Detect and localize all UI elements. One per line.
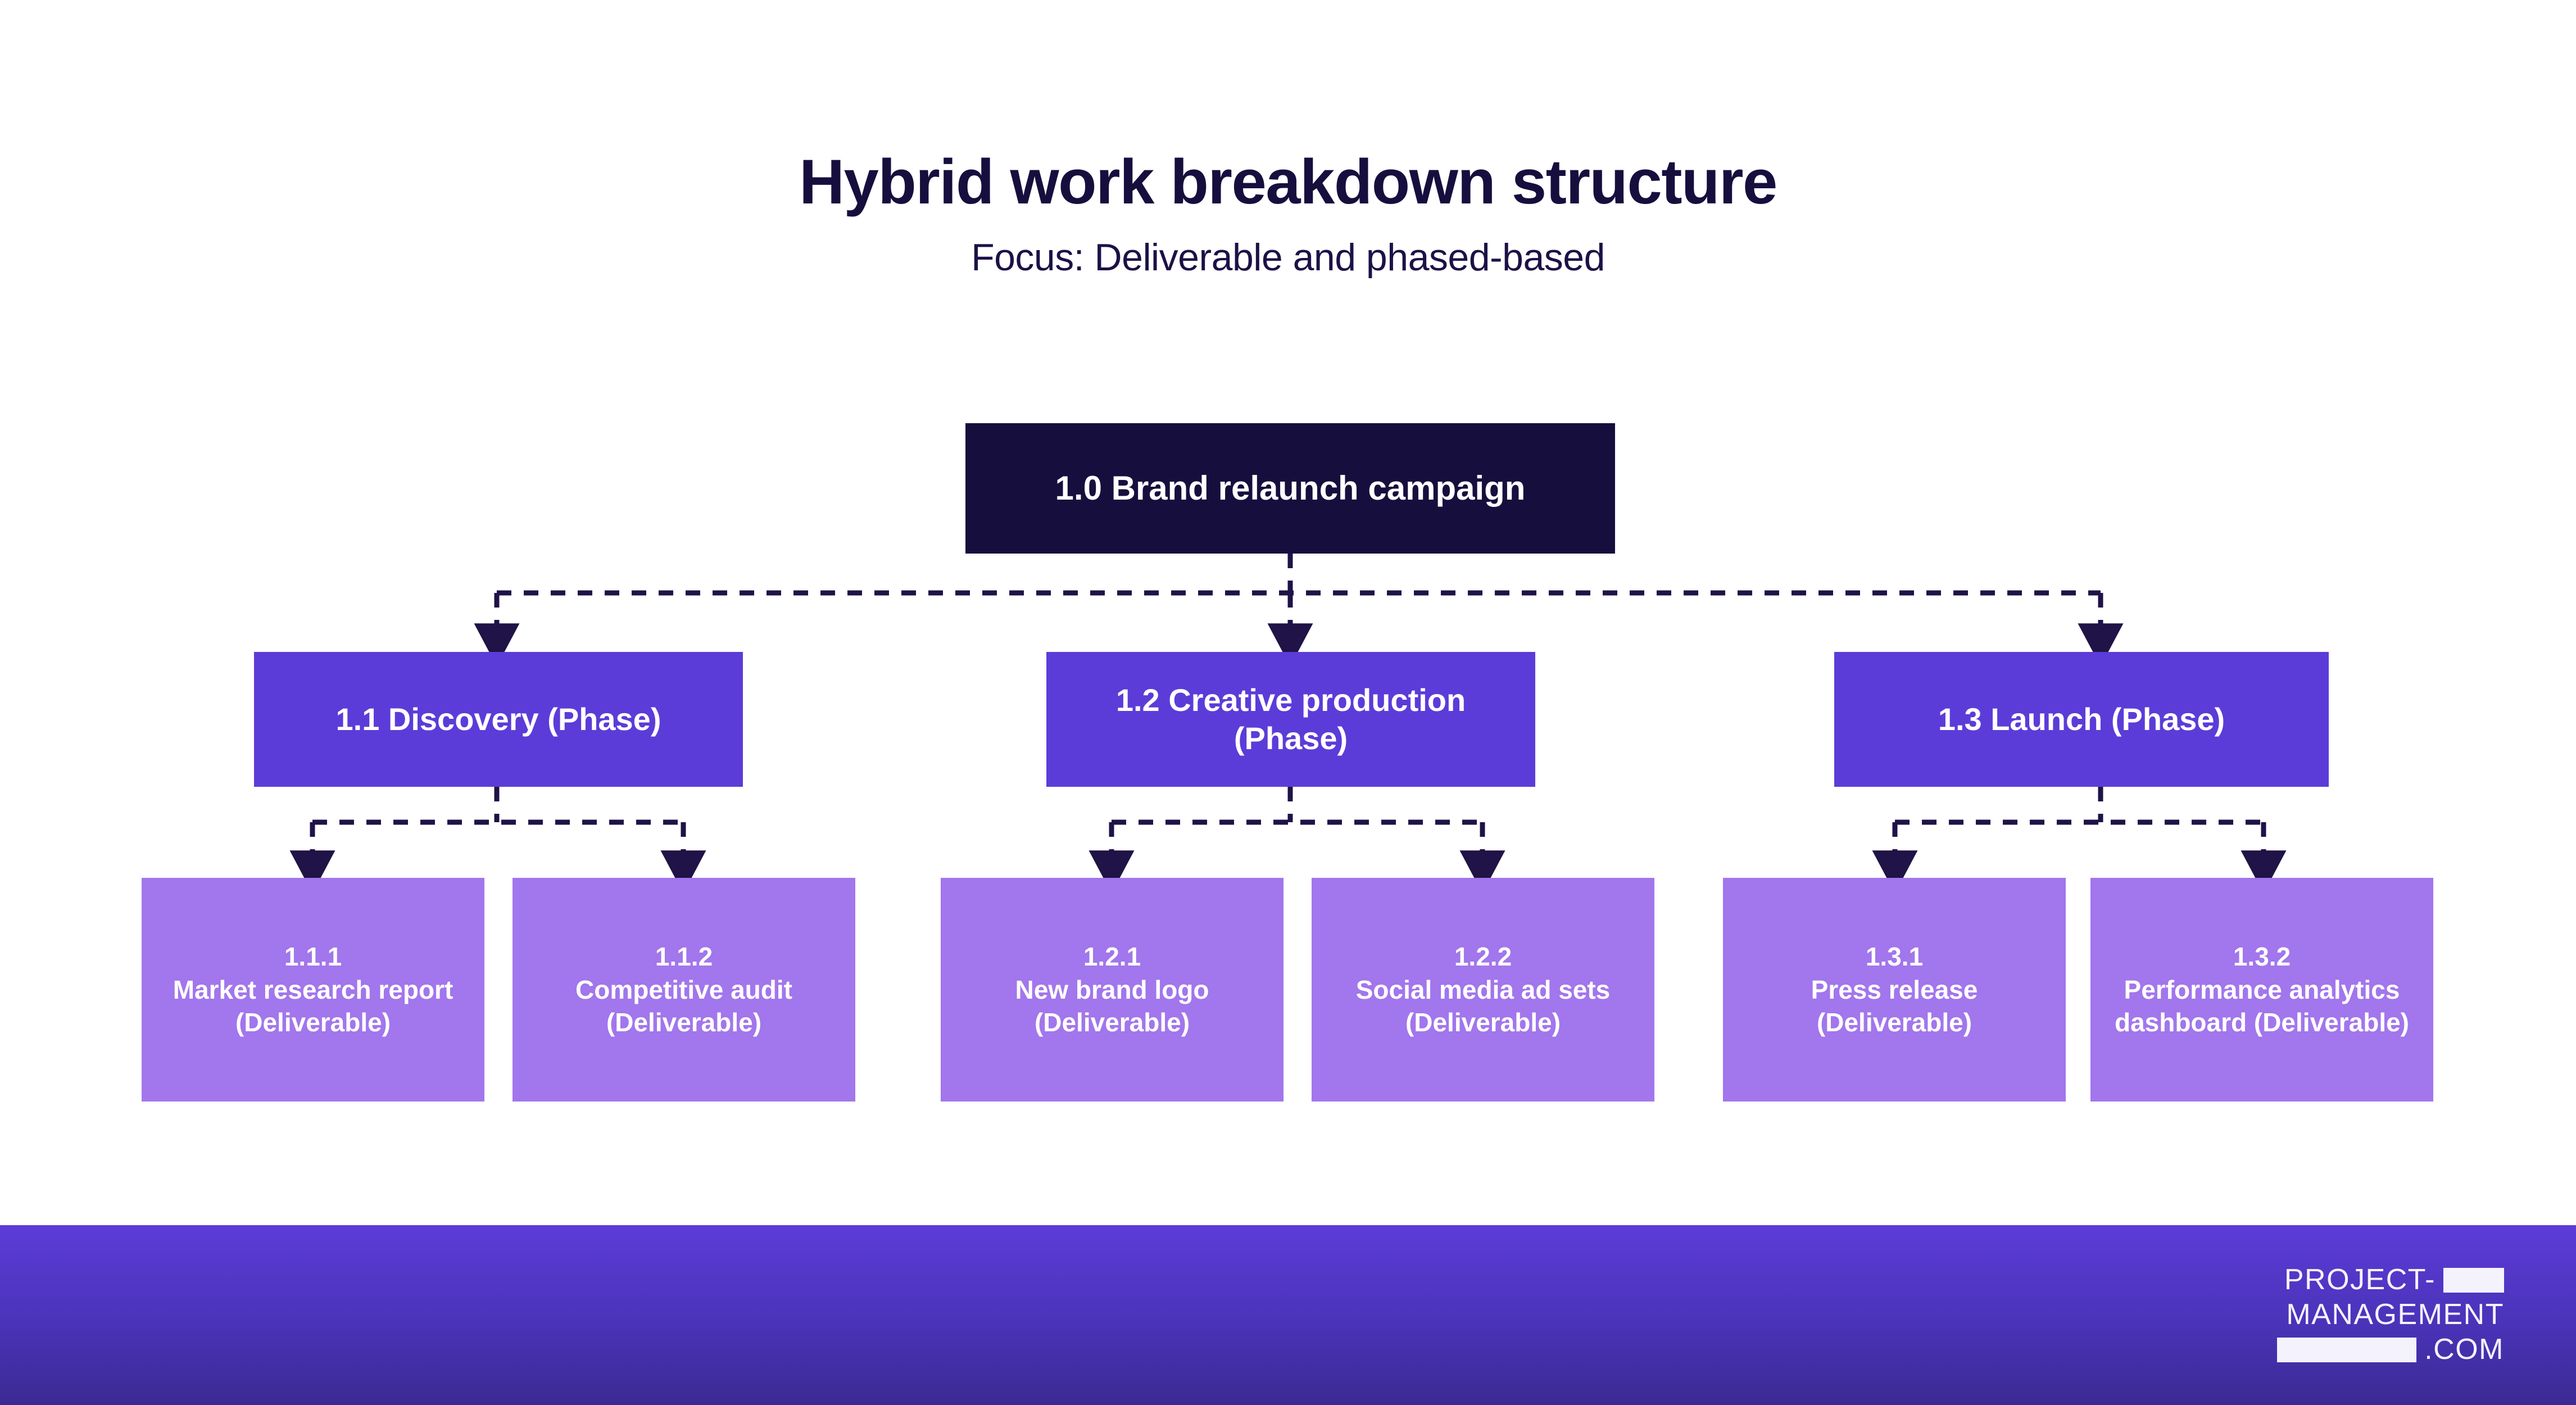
wbs-node-label: Press release (Deliverable) <box>1738 974 2051 1038</box>
wbs-node-deliverable-1-3-1-content: 1.3.1 Press release (Deliverable) <box>1723 941 2066 1038</box>
wbs-node-phase-1-1-text: 1.1 Discovery (Phase) <box>254 700 743 738</box>
site-logo[interactable]: PROJECT- MANAGEMENT .COM <box>2277 1263 2504 1367</box>
wbs-node-phase-1-3[interactable]: 1.3 Launch (Phase) <box>1834 652 2329 787</box>
wbs-node-deliverable-1-1-2[interactable]: 1.1.2 Competitive audit (Deliverable) <box>513 878 855 1102</box>
wbs-node-deliverable-1-3-2[interactable]: 1.3.2 Performance analytics dashboard (D… <box>2090 878 2433 1102</box>
wbs-node-label: New brand logo (Deliverable) <box>955 974 1269 1038</box>
wbs-node-code: 1.3.1 <box>1738 941 2051 973</box>
logo-bar-icon <box>2443 1268 2504 1293</box>
wbs-node-code: 1.1.2 <box>527 941 841 973</box>
wbs-node-code: 1.3.2 <box>2105 941 2419 973</box>
wbs-diagram: 1.0 Brand relaunch campaign 1.1 Discover… <box>0 0 2576 1225</box>
wbs-node-phase-1-3-text: 1.3 Launch (Phase) <box>1834 700 2329 738</box>
wbs-node-label: Competitive audit (Deliverable) <box>527 974 841 1038</box>
logo-text-management: MANAGEMENT <box>2286 1296 2504 1334</box>
footer-band: PROJECT- MANAGEMENT .COM <box>0 1225 2576 1405</box>
wbs-node-deliverable-1-2-2[interactable]: 1.2.2 Social media ad sets (Deliverable) <box>1312 878 1654 1102</box>
wbs-node-deliverable-1-1-2-content: 1.1.2 Competitive audit (Deliverable) <box>513 941 855 1038</box>
wbs-node-deliverable-1-2-2-content: 1.2.2 Social media ad sets (Deliverable) <box>1312 941 1654 1038</box>
wbs-node-deliverable-1-2-1[interactable]: 1.2.1 New brand logo (Deliverable) <box>941 878 1284 1102</box>
wbs-node-deliverable-1-3-2-content: 1.3.2 Performance analytics dashboard (D… <box>2090 941 2433 1038</box>
wbs-node-code: 1.1.1 <box>156 941 470 973</box>
wbs-node-label: Market research report (Deliverable) <box>156 974 470 1038</box>
wbs-node-label: Performance analytics dashboard (Deliver… <box>2105 974 2419 1038</box>
logo-bar-icon <box>2277 1338 2416 1362</box>
wbs-node-deliverable-1-1-1[interactable]: 1.1.1 Market research report (Deliverabl… <box>142 878 484 1102</box>
wbs-node-phase-1-1[interactable]: 1.1 Discovery (Phase) <box>254 652 743 787</box>
logo-text-project: PROJECT- <box>2284 1261 2436 1299</box>
logo-line-1: PROJECT- <box>2277 1263 2504 1298</box>
wbs-node-phase-1-2[interactable]: 1.2 Creative production (Phase) <box>1046 652 1535 787</box>
wbs-node-deliverable-1-1-1-content: 1.1.1 Market research report (Deliverabl… <box>142 941 484 1038</box>
wbs-node-code: 1.2.2 <box>1326 941 1640 973</box>
logo-line-2: MANAGEMENT <box>2277 1298 2504 1333</box>
wbs-node-root-text: 1.0 Brand relaunch campaign <box>965 469 1615 509</box>
wbs-node-phase-1-2-text: 1.2 Creative production (Phase) <box>1046 681 1535 758</box>
wbs-node-label: Social media ad sets (Deliverable) <box>1326 974 1640 1038</box>
wbs-node-deliverable-1-3-1[interactable]: 1.3.1 Press release (Deliverable) <box>1723 878 2066 1102</box>
logo-line-3: .COM <box>2277 1333 2504 1367</box>
logo-text-com: .COM <box>2424 1331 2504 1369</box>
wbs-node-deliverable-1-2-1-content: 1.2.1 New brand logo (Deliverable) <box>941 941 1284 1038</box>
wbs-node-root[interactable]: 1.0 Brand relaunch campaign <box>965 423 1615 554</box>
wbs-node-code: 1.2.1 <box>955 941 1269 973</box>
